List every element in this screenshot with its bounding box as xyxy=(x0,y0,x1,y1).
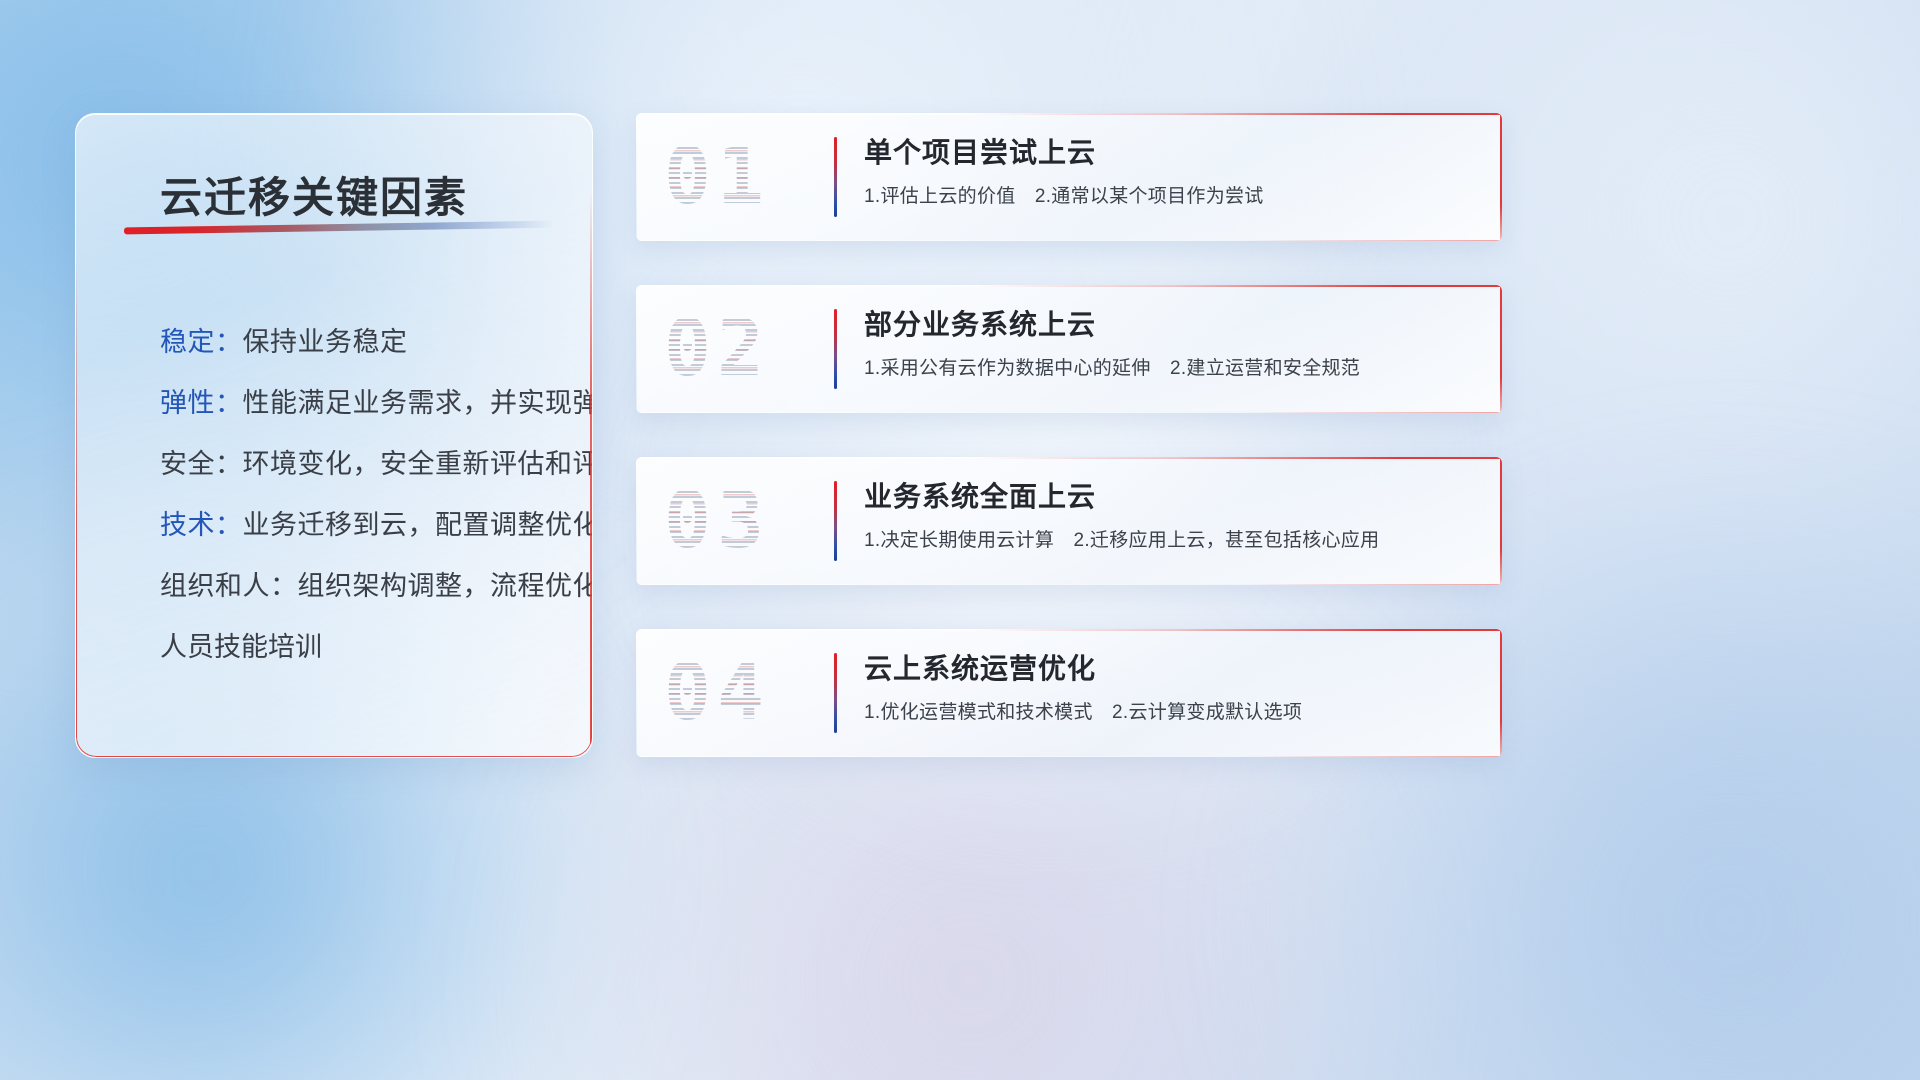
key-factors-panel: 云迁移关键因素 稳定：保持业务稳定 弹性：性能满足业务需求，并实现弹性 安全：环… xyxy=(75,113,593,758)
list-item: 安全：环境变化，安全重新评估和评审 xyxy=(160,434,558,495)
divider-gradient-bar xyxy=(834,137,837,217)
factor-text: 环境变化，安全重新评估和评审 xyxy=(243,449,594,479)
step-number-01: 01 xyxy=(664,132,770,222)
step-number-02: 02 xyxy=(664,304,770,394)
card-bottom-edge xyxy=(636,756,1502,757)
divider-gradient-bar xyxy=(834,481,837,561)
card-body: 云上系统运营优化 1.优化运营模式和技术模式 2.云计算变成默认选项 xyxy=(864,651,1476,726)
list-item: 技术：业务迁移到云，配置调整优化 xyxy=(160,495,558,556)
step-number-04: 04 xyxy=(664,648,770,738)
card-bottom-edge xyxy=(636,240,1502,241)
factor-label: 稳定： xyxy=(160,327,243,357)
divider-gradient-bar xyxy=(834,309,837,389)
card-title: 部分业务系统上云 xyxy=(864,307,1476,343)
step-number-03: 03 xyxy=(664,476,770,566)
factor-label: 组织和人： xyxy=(160,571,298,601)
factor-label: 安全： xyxy=(160,449,243,479)
card-left-edge xyxy=(636,113,637,241)
card-title: 云上系统运营优化 xyxy=(864,651,1476,687)
card-left-edge xyxy=(636,629,637,757)
card-body: 业务系统全面上云 1.决定长期使用云计算 2.迁移应用上云，甚至包括核心应用 xyxy=(864,479,1476,554)
list-item: 组织和人：组织架构调整，流程优化， xyxy=(160,556,558,617)
card-left-edge xyxy=(636,457,637,585)
factor-label: 弹性： xyxy=(160,388,243,418)
card-bottom-edge xyxy=(636,584,1502,585)
card-description: 1.决定长期使用云计算 2.迁移应用上云，甚至包括核心应用 xyxy=(864,528,1476,554)
list-item: 弹性：性能满足业务需求，并实现弹性 xyxy=(160,373,558,434)
factor-text: 保持业务稳定 xyxy=(243,327,408,357)
factor-list: 稳定：保持业务稳定 弹性：性能满足业务需求，并实现弹性 安全：环境变化，安全重新… xyxy=(160,312,558,678)
migration-steps-list: 01 01 单个项目尝试上云 1.评估上云的价值 2.通常以某个项目作为尝试 0… xyxy=(636,113,1502,801)
step-card-03[interactable]: 03 03 业务系统全面上云 1.决定长期使用云计算 2.迁移应用上云，甚至包括… xyxy=(636,457,1502,585)
card-body: 部分业务系统上云 1.采用公有云作为数据中心的延伸 2.建立运营和安全规范 xyxy=(864,307,1476,382)
divider-gradient-bar xyxy=(834,653,837,733)
step-card-02[interactable]: 02 02 部分业务系统上云 1.采用公有云作为数据中心的延伸 2.建立运营和安… xyxy=(636,285,1502,413)
card-bottom-edge xyxy=(636,412,1502,413)
list-item: 稳定：保持业务稳定 xyxy=(160,312,558,373)
factor-text-continuation: 人员技能培训 xyxy=(160,617,558,678)
card-description: 1.优化运营模式和技术模式 2.云计算变成默认选项 xyxy=(864,700,1476,726)
factor-text: 业务迁移到云，配置调整优化 xyxy=(243,510,594,540)
card-description: 1.采用公有云作为数据中心的延伸 2.建立运营和安全规范 xyxy=(864,356,1476,382)
card-body: 单个项目尝试上云 1.评估上云的价值 2.通常以某个项目作为尝试 xyxy=(864,135,1476,210)
card-title: 单个项目尝试上云 xyxy=(864,135,1476,171)
card-description: 1.评估上云的价值 2.通常以某个项目作为尝试 xyxy=(864,184,1476,210)
factor-text: 性能满足业务需求，并实现弹性 xyxy=(243,388,594,418)
step-card-04[interactable]: 04 04 云上系统运营优化 1.优化运营模式和技术模式 2.云计算变成默认选项 xyxy=(636,629,1502,757)
card-title: 业务系统全面上云 xyxy=(864,479,1476,515)
page-title: 云迁移关键因素 xyxy=(160,164,468,225)
factor-text: 组织架构调整，流程优化， xyxy=(298,571,594,601)
slide-stage: 云迁移关键因素 稳定：保持业务稳定 弹性：性能满足业务需求，并实现弹性 安全：环… xyxy=(0,0,1920,1080)
factor-label: 技术： xyxy=(160,510,243,540)
card-left-edge xyxy=(636,285,637,413)
step-card-01[interactable]: 01 01 单个项目尝试上云 1.评估上云的价值 2.通常以某个项目作为尝试 xyxy=(636,113,1502,241)
